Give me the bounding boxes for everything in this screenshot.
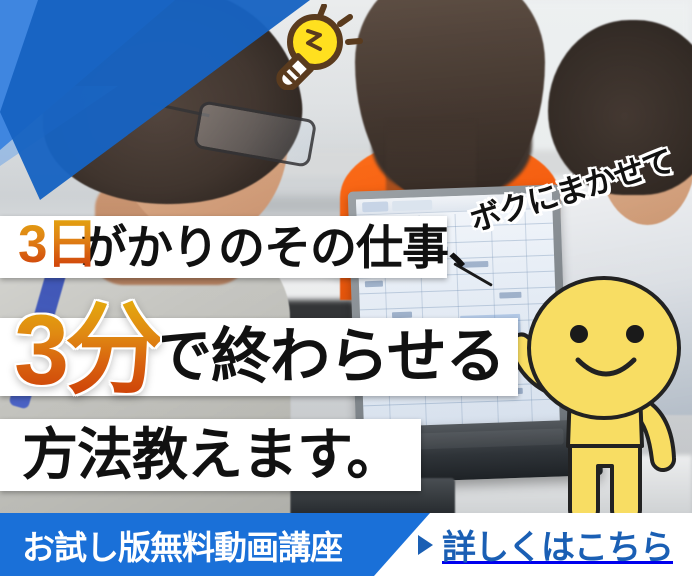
promo-banner: ボクにまかせて がかりのその仕事、 3日 で終わらせる xyxy=(0,0,692,576)
mascot-eye-left xyxy=(570,325,588,343)
spreadsheet-tab xyxy=(362,201,388,212)
cta-details-link[interactable]: 詳しくはこちら xyxy=(418,513,673,576)
cta-link-label: 詳しくはこちら xyxy=(442,520,673,569)
headline-line-3-text: 方法教えます。 xyxy=(0,427,401,483)
spreadsheet-titlebar xyxy=(392,200,432,211)
mascot-character xyxy=(496,240,692,530)
cta-badge-label: お試し版無料動画講座 xyxy=(0,521,342,569)
cta-badge[interactable]: お試し版無料動画講座 xyxy=(0,513,430,576)
headline-accent-3minutes: 3分 xyxy=(14,300,160,399)
mascot-eye-right xyxy=(626,325,644,343)
cta-bar: お試し版無料動画講座 詳しくはこちら xyxy=(0,513,692,576)
headline-band-3: 方法教えます。 xyxy=(0,419,421,491)
play-triangle-icon xyxy=(418,535,433,555)
lightbulb-icon xyxy=(258,4,368,90)
headline-accent-3days: 3日 xyxy=(18,218,96,271)
